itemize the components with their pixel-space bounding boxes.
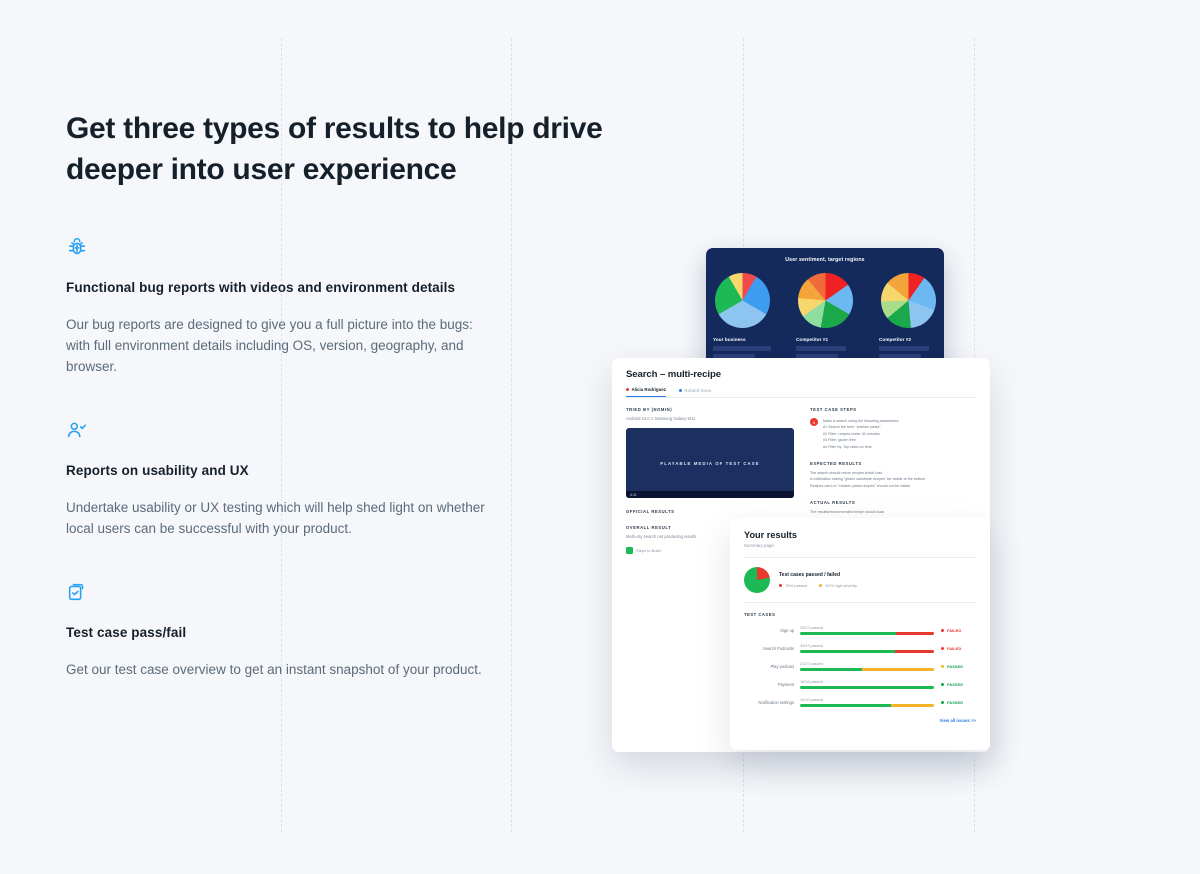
row-count: 21/27 passed: [800, 662, 934, 666]
step-number-badge: 1: [810, 418, 818, 426]
test-case-steps-label: TEST CASE STEPS: [810, 407, 976, 412]
pie-column: Your business: [713, 273, 771, 359]
divider: [744, 602, 976, 603]
status-label: PASSED: [947, 682, 963, 687]
status-label: PASSED: [947, 700, 963, 705]
legend-label: 52% high severity: [825, 583, 857, 588]
actual-line: The results/recommended recipe should lo…: [810, 509, 976, 515]
skeleton-line: [713, 346, 771, 351]
table-row[interactable]: Search Podcasts 33/47 passed FAILED: [744, 644, 976, 653]
summary-donut-row: Test cases passed / failed 78% passed 52…: [744, 567, 976, 593]
tab-tester-alicia[interactable]: Alicia Rodriguez: [626, 387, 666, 397]
bar-segment-passed: [800, 686, 934, 689]
media-player[interactable]: PLAYABLE MEDIA OF TEST CASE 4:11: [626, 428, 794, 498]
feature-description: Get our test case overview to get an ins…: [66, 659, 490, 680]
bar-segment-passed: [800, 668, 862, 671]
step-line: #4 Filter by: Top rated on time: [823, 444, 899, 450]
row-bar-wrap: 10/10 passed: [800, 698, 934, 707]
actual-results-block: ACTUAL RESULTS The results/recommended r…: [810, 500, 976, 515]
sentiment-card-title: User sentiment, target regions: [706, 257, 944, 263]
expected-results-label: EXPECTED RESULTS: [810, 461, 976, 466]
progress-bar: [800, 704, 934, 707]
tried-by-label: TRIED BY (NOMIN): [626, 407, 794, 412]
view-all-issues-link[interactable]: View all issues >>: [744, 718, 976, 723]
actual-results-label: ACTUAL RESULTS: [810, 500, 976, 505]
test-case-tabs: Alicia Rodriguez Roland Sova: [626, 387, 976, 397]
donut-legend: 78% passed 52% high severity: [779, 583, 857, 588]
results-subtitle: Summary page: [744, 543, 976, 548]
expected-results-text: The search should return recipes which l…: [810, 470, 976, 489]
tab-label: Alicia Rodriguez: [632, 387, 666, 392]
status-dot-icon: [941, 665, 944, 668]
user-check-icon: [66, 419, 88, 441]
legend-label: 78% passed: [785, 583, 807, 588]
status-badge[interactable]: Steps to Build: [626, 547, 661, 554]
row-bar-wrap: 18/18 passed: [800, 680, 934, 689]
pie-label: Your business: [713, 337, 771, 342]
pie-chart-competitor-1: [798, 273, 853, 328]
row-name: Sign up: [744, 628, 800, 633]
product-screenshot-composition: User sentiment, target regions Your busi…: [600, 230, 1020, 770]
legend-dot-icon: [779, 584, 782, 587]
media-timestamp: 4:11: [630, 493, 637, 497]
table-row[interactable]: Notification settings 10/10 passed PASSE…: [744, 698, 976, 707]
skeleton-line: [796, 346, 846, 351]
pie-label: Competitor #2: [879, 337, 937, 342]
row-count: 33/47 passed: [800, 644, 934, 648]
bar-segment-warning: [891, 704, 934, 707]
pie-column: Competitor #1: [796, 273, 854, 359]
official-results-block: OFFICIAL RESULTS: [626, 509, 794, 514]
pie-chart-passed-failed: [744, 567, 770, 593]
bar-segment-failed: [896, 632, 934, 635]
build-icon: [626, 547, 633, 554]
status-label: FAILED: [947, 646, 961, 651]
bug-icon: [66, 236, 88, 258]
feature-item-bug-reports: Functional bug reports with videos and e…: [66, 236, 566, 377]
test-cases-label: TEST CASES: [744, 612, 976, 617]
status-badge: PASSED: [934, 664, 976, 669]
test-case-header: Search – multi-recipe Alicia Rodriguez R…: [612, 358, 990, 397]
test-case-title: Search – multi-recipe: [626, 369, 976, 380]
status-badge-label: Steps to Build: [636, 548, 661, 553]
feature-item-test-case: Test case pass/fail Get our test case ov…: [66, 581, 566, 680]
clipboard-check-icon: [66, 581, 88, 603]
page-title: Get three types of results to help drive…: [66, 108, 646, 190]
bar-segment-passed: [800, 650, 895, 653]
step-text: Make a search using the following parame…: [823, 418, 899, 450]
divider: [744, 557, 976, 558]
feature-title: Functional bug reports with videos and e…: [66, 280, 566, 295]
tab-dot-icon: [626, 388, 629, 391]
page-root: Get three types of results to help drive…: [0, 0, 1200, 874]
row-bar-wrap: 25/27 passed: [800, 626, 934, 635]
progress-bar: [800, 686, 934, 689]
pie-label: Competitor #1: [796, 337, 854, 342]
pie-chart-competitor-2: [881, 273, 936, 328]
results-card: Your results Summary page Test cases pas…: [730, 518, 990, 750]
bar-segment-failed: [895, 650, 934, 653]
pie-chart-your-business: [715, 273, 770, 328]
device-value: Android 12.0.1 Samsung Galaxy M11: [626, 416, 794, 421]
donut-info: Test cases passed / failed 78% passed 52…: [779, 572, 857, 588]
tab-label: Roland Sova: [684, 388, 711, 393]
actual-results-text: The results/recommended recipe should lo…: [810, 509, 976, 515]
status-badge: PASSED: [934, 682, 976, 687]
row-count: 10/10 passed: [800, 698, 934, 702]
row-name: Payment: [744, 682, 800, 687]
feature-description: Our bug reports are designed to give you…: [66, 314, 490, 377]
feature-title: Reports on usability and UX: [66, 463, 566, 478]
legend-dot-icon: [819, 584, 822, 587]
bar-segment-passed: [800, 632, 896, 635]
status-dot-icon: [941, 629, 944, 632]
results-title: Your results: [744, 530, 976, 540]
status-dot-icon: [941, 683, 944, 686]
row-name: Notification settings: [744, 700, 800, 705]
tab-tester-roland[interactable]: Roland Sova: [679, 387, 711, 397]
row-count: 25/27 passed: [800, 626, 934, 630]
progress-bar: [800, 632, 934, 635]
row-count: 18/18 passed: [800, 680, 934, 684]
media-placeholder-text: PLAYABLE MEDIA OF TEST CASE: [660, 461, 759, 466]
bar-segment-warning: [862, 668, 934, 671]
skeleton-line: [879, 346, 929, 351]
status-badge: FAILED: [934, 646, 976, 651]
official-results-label: OFFICIAL RESULTS: [626, 509, 794, 514]
legend-item: 78% passed: [779, 583, 807, 588]
status-badge: PASSED: [934, 700, 976, 705]
test-case-step: 1 Make a search using the following para…: [810, 418, 976, 450]
row-bar-wrap: 21/27 passed: [800, 662, 934, 671]
legend-item: 52% high severity: [819, 583, 857, 588]
feature-title: Test case pass/fail: [66, 625, 566, 640]
status-dot-icon: [941, 647, 944, 650]
expected-line: Recipes card on "chicken pasta recipes" …: [810, 483, 976, 489]
row-name: Play podcast: [744, 664, 800, 669]
media-progress-bar[interactable]: 4:11: [626, 491, 794, 498]
test-cases-list: Sign up 25/27 passed FAILED Search: [744, 626, 976, 707]
feature-description: Undertake usability or UX testing which …: [66, 497, 490, 539]
row-bar-wrap: 33/47 passed: [800, 644, 934, 653]
features-column: Get three types of results to help drive…: [66, 108, 566, 680]
expected-results-block: EXPECTED RESULTS The search should retur…: [810, 461, 976, 489]
tab-dot-icon: [679, 389, 682, 392]
progress-bar: [800, 668, 934, 671]
sentiment-pie-group: Your business Competitor #1 Competitor #…: [706, 273, 944, 359]
status-label: PASSED: [947, 664, 963, 669]
row-name: Search Podcasts: [744, 646, 800, 651]
table-row[interactable]: Play podcast 21/27 passed PASSED: [744, 662, 976, 671]
table-row[interactable]: Payment 18/18 passed PASSED: [744, 680, 976, 689]
status-badge: FAILED: [934, 628, 976, 633]
feature-item-usability: Reports on usability and UX Undertake us…: [66, 419, 566, 539]
table-row[interactable]: Sign up 25/27 passed FAILED: [744, 626, 976, 635]
status-dot-icon: [941, 701, 944, 704]
status-label: FAILED: [947, 628, 961, 633]
pie-column: Competitor #2: [879, 273, 937, 359]
progress-bar: [800, 650, 934, 653]
donut-title: Test cases passed / failed: [779, 572, 857, 578]
bar-segment-passed: [800, 704, 891, 707]
